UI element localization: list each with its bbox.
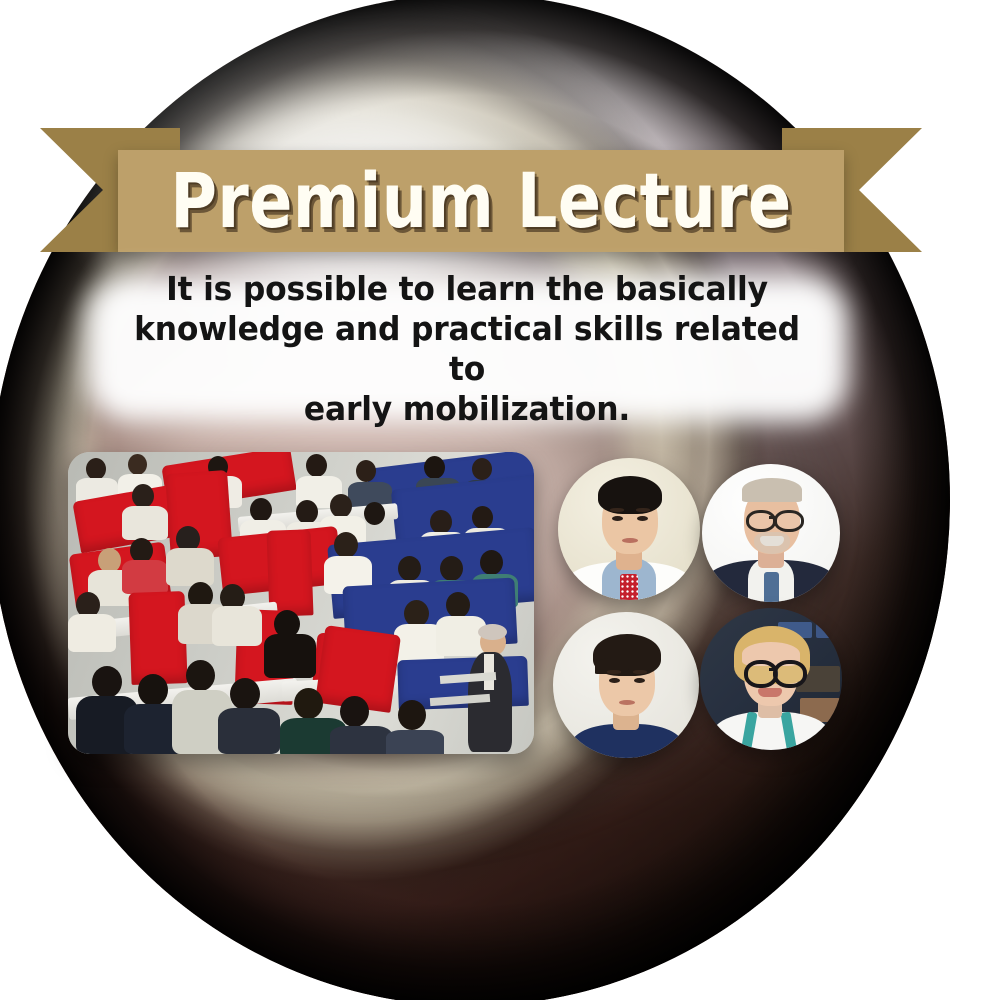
portrait-hair — [742, 478, 802, 502]
portrait-glasses-bridge — [769, 516, 775, 519]
portrait-top-right — [702, 464, 840, 602]
attendee-head — [440, 556, 463, 581]
attendee-head — [132, 484, 154, 508]
attendee-head — [480, 550, 503, 575]
attendee-head — [356, 460, 376, 482]
attendee-head — [138, 674, 168, 706]
portrait-mouth — [619, 700, 635, 705]
attendee-body — [212, 606, 262, 646]
poster-panel — [816, 624, 840, 638]
attendee-head — [340, 696, 369, 727]
portrait-tie — [620, 574, 638, 600]
attendee-head — [398, 700, 426, 730]
portrait-glasses-left — [746, 510, 776, 532]
portrait-smile — [758, 688, 782, 697]
attendee-head — [296, 500, 318, 524]
attendee-body — [166, 548, 214, 586]
portrait-glasses-bridge — [769, 668, 775, 671]
attendee-head — [398, 556, 421, 581]
attendee-body — [436, 616, 486, 656]
attendee-head — [86, 458, 106, 480]
attendee-body — [122, 506, 168, 540]
portrait-eye — [634, 678, 645, 683]
portrait-glasses-right — [774, 510, 804, 532]
attendee-head — [330, 494, 352, 518]
portrait-hair — [598, 476, 662, 514]
attendee-body — [122, 560, 168, 594]
attendee-head — [472, 506, 493, 529]
attendee-body — [386, 730, 444, 754]
portrait-brow — [610, 508, 624, 512]
attendee-head — [424, 456, 445, 479]
slide-canvas: Premium Lecture It is possible to learn … — [0, 0, 1000, 1000]
attendee-head — [186, 660, 215, 691]
attendee-body — [330, 726, 392, 754]
portrait-tie — [764, 572, 779, 602]
portrait-mouth — [622, 538, 638, 543]
attendee-head — [128, 454, 147, 475]
attendee-body — [218, 708, 280, 754]
portrait-eye — [612, 516, 623, 521]
portrait-brow — [633, 670, 647, 674]
caption-box: It is possible to learn the basically kn… — [86, 276, 848, 422]
portrait-glasses-right — [773, 660, 807, 688]
attendee-body — [68, 614, 116, 652]
attendee-head — [294, 688, 323, 719]
caption-text: It is possible to learn the basically kn… — [130, 269, 805, 430]
portrait-eye — [637, 516, 648, 521]
portrait-bottom-left — [553, 612, 699, 758]
attendee-head — [430, 510, 452, 534]
portrait-top-left — [558, 458, 700, 600]
ribbon-banner: Premium Lecture — [40, 128, 922, 252]
portrait-beard — [754, 532, 790, 554]
attendee-head — [250, 498, 272, 522]
portrait-brow — [607, 670, 621, 674]
attendee-head — [472, 458, 492, 480]
attendee-head — [334, 532, 358, 558]
banner-title: Premium Lecture — [143, 150, 818, 252]
attendee-head — [404, 600, 429, 627]
attendee-head — [230, 678, 260, 710]
attendee-head — [92, 666, 122, 698]
portrait-eye — [609, 678, 620, 683]
speaker-hair — [478, 624, 507, 640]
portrait-bottom-right — [700, 608, 842, 750]
lecture-hall-photo — [68, 452, 534, 754]
attendee-body — [264, 634, 316, 678]
attendee-head — [364, 502, 385, 525]
attendee-head — [306, 454, 327, 477]
attendee-head — [446, 592, 470, 618]
portrait-brow — [636, 508, 650, 512]
